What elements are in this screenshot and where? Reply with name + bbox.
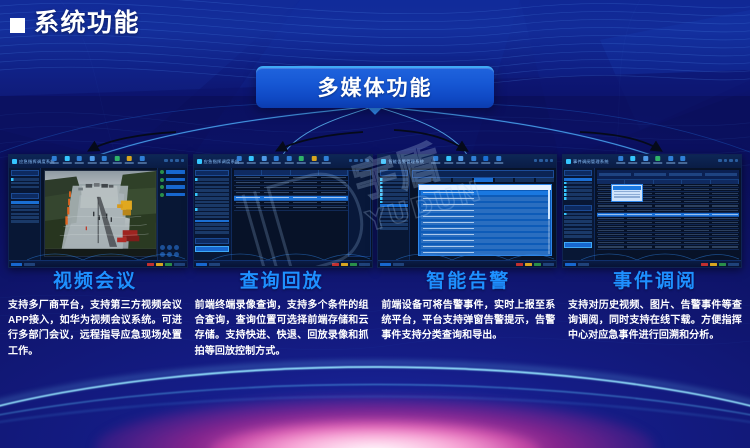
banner-title: 多媒体功能 [318,78,433,99]
square-marker-icon [10,18,25,33]
status-button[interactable] [359,263,370,266]
grid-filter-bar[interactable] [597,170,739,180]
tree-node[interactable] [195,186,229,189]
alarm-category-list[interactable] [418,184,552,256]
panel-sidebar[interactable] [9,168,41,260]
tree-node[interactable] [195,227,229,230]
status-button[interactable] [728,263,739,266]
column-header [234,170,263,175]
panel-sidebar[interactable] [378,168,410,260]
panel-smart-alarm[interactable]: 智能告警管理系统 [377,154,557,268]
page-title-text: 系统功能 [34,11,140,36]
control-icon[interactable] [174,245,179,250]
alarm-search-bar[interactable] [412,170,554,178]
feature-column-video-conference: 视频会议 支持多厂商平台，支持第三方视频会议APP接入，如华为视频会议系统。可进… [4,272,186,392]
sidebar-filter-input[interactable] [564,205,592,211]
tree-node[interactable] [380,201,408,204]
center-banner: 多媒体功能 [0,66,750,108]
tree-node[interactable] [380,189,408,192]
status-button[interactable] [543,263,554,266]
banner-plate: 多媒体功能 [256,66,494,108]
tab-active [474,178,493,182]
grid-row[interactable] [597,245,739,249]
status-indicator-ok [719,263,726,266]
device-list[interactable] [11,201,39,223]
tree-node[interactable] [380,212,408,215]
status-indicator-warn [710,263,717,266]
status-button[interactable] [11,263,22,266]
panel-statusbar[interactable] [563,260,741,267]
feature-body: 支持对历史视频、图片、告警事件等查询调阅，同时支持在线下载。方便指挥中心对应急事… [568,298,742,344]
panel-main [232,168,372,260]
tree-node[interactable] [564,193,592,196]
feature-column-query-playback: 查询回放 前端终端录像查询，支持多个条件的组合查询，查询位置可选择前端存储和云存… [191,272,373,392]
panel-body [9,168,187,260]
status-indicator-alarm [516,263,523,266]
participant-row[interactable] [160,170,185,174]
panel-body [378,168,556,260]
panel-statusbar[interactable] [378,260,556,267]
sidebar-filter-input[interactable] [11,193,39,199]
tree-node[interactable] [195,197,229,200]
device-tree[interactable] [11,178,39,188]
tree-node[interactable] [195,204,229,207]
tree-node[interactable] [380,193,408,196]
list-item[interactable] [421,233,550,237]
avatar [160,178,164,182]
tree-node[interactable] [195,201,229,204]
tab [515,178,534,182]
status-button[interactable] [380,263,391,266]
status-button[interactable] [196,263,207,266]
sidebar-query-button[interactable] [564,242,592,248]
tab [495,178,514,182]
panel-main [595,168,741,260]
event-filter-list[interactable] [564,213,592,238]
control-icon[interactable] [167,245,172,250]
tree-node[interactable] [195,182,229,185]
tree-node-selected[interactable] [11,201,39,204]
tree-node[interactable] [564,220,592,223]
avatar [160,185,164,189]
tree-node[interactable] [380,216,408,219]
status-button[interactable] [24,263,35,266]
sidebar-search-input[interactable] [564,170,592,176]
alarm-tree[interactable] [380,178,408,230]
filter-field[interactable] [669,173,701,176]
tree-node[interactable] [11,216,39,219]
status-indicator-warn [525,263,532,266]
feature-column-smart-alarm: 智能告警 前端设备可将告警事件，实时上报至系统平台，平台支持弹窗告警提示，告警事… [377,272,559,392]
device-tree[interactable] [195,178,229,234]
status-button[interactable] [174,263,185,266]
status-indicator-ok [350,263,357,266]
list-item[interactable] [421,239,550,243]
participant-action[interactable] [166,193,186,196]
list-item[interactable] [421,209,550,213]
feature-heading: 查询回放 [240,272,324,291]
tree-node[interactable] [11,209,39,212]
list-item[interactable] [421,203,550,207]
preview-pane [348,170,371,257]
tree-node[interactable] [195,208,229,211]
tree-node[interactable] [564,186,592,189]
list-item-selected[interactable] [421,191,550,195]
feature-body: 前端终端录像查询，支持多个条件的组合查询，查询位置可选择前端存储和云存储。支持快… [195,298,369,359]
tree-node[interactable] [195,178,229,181]
pointer-arrows [0,128,750,168]
list-item[interactable] [421,215,550,219]
tree-node-selected[interactable] [380,204,408,207]
tree-node[interactable] [380,182,408,185]
tree-node[interactable] [380,223,408,226]
feature-heading: 事件调阅 [613,272,697,291]
tab [536,178,555,182]
tree-node[interactable] [564,213,592,216]
tree-node[interactable] [195,231,229,234]
filter-field[interactable] [634,173,666,176]
sidebar-search-input[interactable] [380,170,408,176]
video-feed[interactable] [44,170,157,257]
panel-video-conference[interactable]: 应急指挥调度系统 [8,154,188,268]
participant-action[interactable] [166,185,186,188]
panel-sidebar[interactable] [563,168,595,260]
participant-row[interactable] [160,185,185,189]
tree-node[interactable] [380,186,408,189]
filter-field[interactable] [599,173,631,176]
panel-main [410,168,556,260]
status-button[interactable] [578,263,589,266]
column-header [291,170,320,175]
tree-node[interactable] [564,197,592,200]
panel-query-playback[interactable]: 应急指挥调度系统 [193,154,373,268]
tree-node[interactable] [11,178,39,181]
sidebar-search-input[interactable] [195,170,229,176]
event-data-grid[interactable] [597,170,739,257]
avatar [160,193,164,197]
table-row[interactable] [234,206,348,211]
column-header [262,170,291,175]
tree-node[interactable] [564,231,592,234]
avatar [160,170,164,174]
flooded-road-image [45,171,156,249]
participant-action[interactable] [166,170,186,173]
tree-node-selected[interactable] [195,220,229,223]
tab [433,178,452,182]
feature-columns: 视频会议 支持多厂商平台，支持第三方视频会议APP接入，如华为视频会议系统。可进… [0,272,750,392]
tree-node-selected[interactable] [564,178,592,181]
status-indicator-alarm [701,263,708,266]
feature-body: 前端设备可将告警事件，实时上报至系统平台，平台支持弹窗告警提示，告警事件支持分类… [381,298,555,344]
tree-node[interactable] [380,178,408,181]
tree-node[interactable] [195,189,229,192]
tree-node[interactable] [564,189,592,192]
event-detail-popup[interactable] [611,184,643,202]
participant-action[interactable] [166,178,186,181]
status-button[interactable] [393,263,404,266]
tree-node[interactable] [11,182,39,185]
status-indicator-ok [165,263,172,266]
column-header [319,170,348,175]
feature-heading: 视频会议 [53,272,137,291]
tree-node[interactable] [195,212,229,215]
popup-title [613,186,641,190]
feature-column-event-review: 事件调阅 支持对历史视频、图片、告警事件等查询调阅，同时支持在线下载。方便指挥中… [564,272,746,392]
list-item[interactable] [421,197,550,201]
status-indicator-warn [156,263,163,266]
feature-heading: 智能告警 [426,272,510,291]
tree-node[interactable] [11,220,39,223]
panel-sidebar[interactable] [194,168,232,260]
status-button[interactable] [565,263,576,266]
tree-node[interactable] [564,182,592,185]
popup-line [614,194,640,195]
panel-main [41,168,187,260]
participant-row[interactable] [160,193,185,197]
sidebar-date-input[interactable] [195,238,229,244]
tree-node[interactable] [380,197,408,200]
event-tree[interactable] [564,178,592,200]
panel-event-review[interactable]: 事件调阅管理系统 [562,154,742,268]
status-indicator-alarm [147,263,154,266]
control-icon[interactable] [160,245,165,250]
sidebar-search-input[interactable] [11,170,39,176]
panel-body [563,168,741,260]
record-table[interactable] [234,170,348,257]
tree-node[interactable] [11,213,39,216]
participant-panel[interactable] [157,168,187,260]
status-indicator-ok [534,263,541,266]
screenshot-panels: 应急指挥调度系统 [0,154,750,266]
status-indicator-alarm [332,263,339,266]
page-title: 系统功能 [10,11,140,36]
list-item[interactable] [421,227,550,231]
alarm-tab-strip[interactable] [412,178,554,182]
status-indicator-warn [341,263,348,266]
tree-node[interactable] [564,224,592,227]
tree-node[interactable] [564,216,592,219]
popup-line [614,191,640,192]
popup-line [614,196,640,197]
tree-node[interactable] [195,216,229,219]
status-button[interactable] [209,263,220,266]
feature-body: 支持多厂商平台，支持第三方视频会议APP接入，如华为视频会议系统。可进行多部门会… [8,298,182,359]
tree-node[interactable] [380,208,408,211]
tree-node[interactable] [11,205,39,208]
tree-node[interactable] [564,228,592,231]
panel-statusbar[interactable] [194,260,372,267]
list-scrollbar[interactable] [548,190,550,254]
tab [453,178,472,182]
tab [412,178,431,182]
list-items[interactable] [419,190,551,256]
tree-node[interactable] [564,235,592,238]
tree-node[interactable] [380,227,408,230]
tree-node[interactable] [11,186,39,189]
participant-row[interactable] [160,178,185,182]
panel-body [194,168,372,260]
list-item[interactable] [421,221,550,225]
tree-node[interactable] [195,223,229,226]
panel-statusbar[interactable] [9,260,187,267]
tree-node[interactable] [380,220,408,223]
tree-node[interactable] [195,193,229,196]
filter-field[interactable] [705,173,737,176]
list-item[interactable] [421,245,550,249]
